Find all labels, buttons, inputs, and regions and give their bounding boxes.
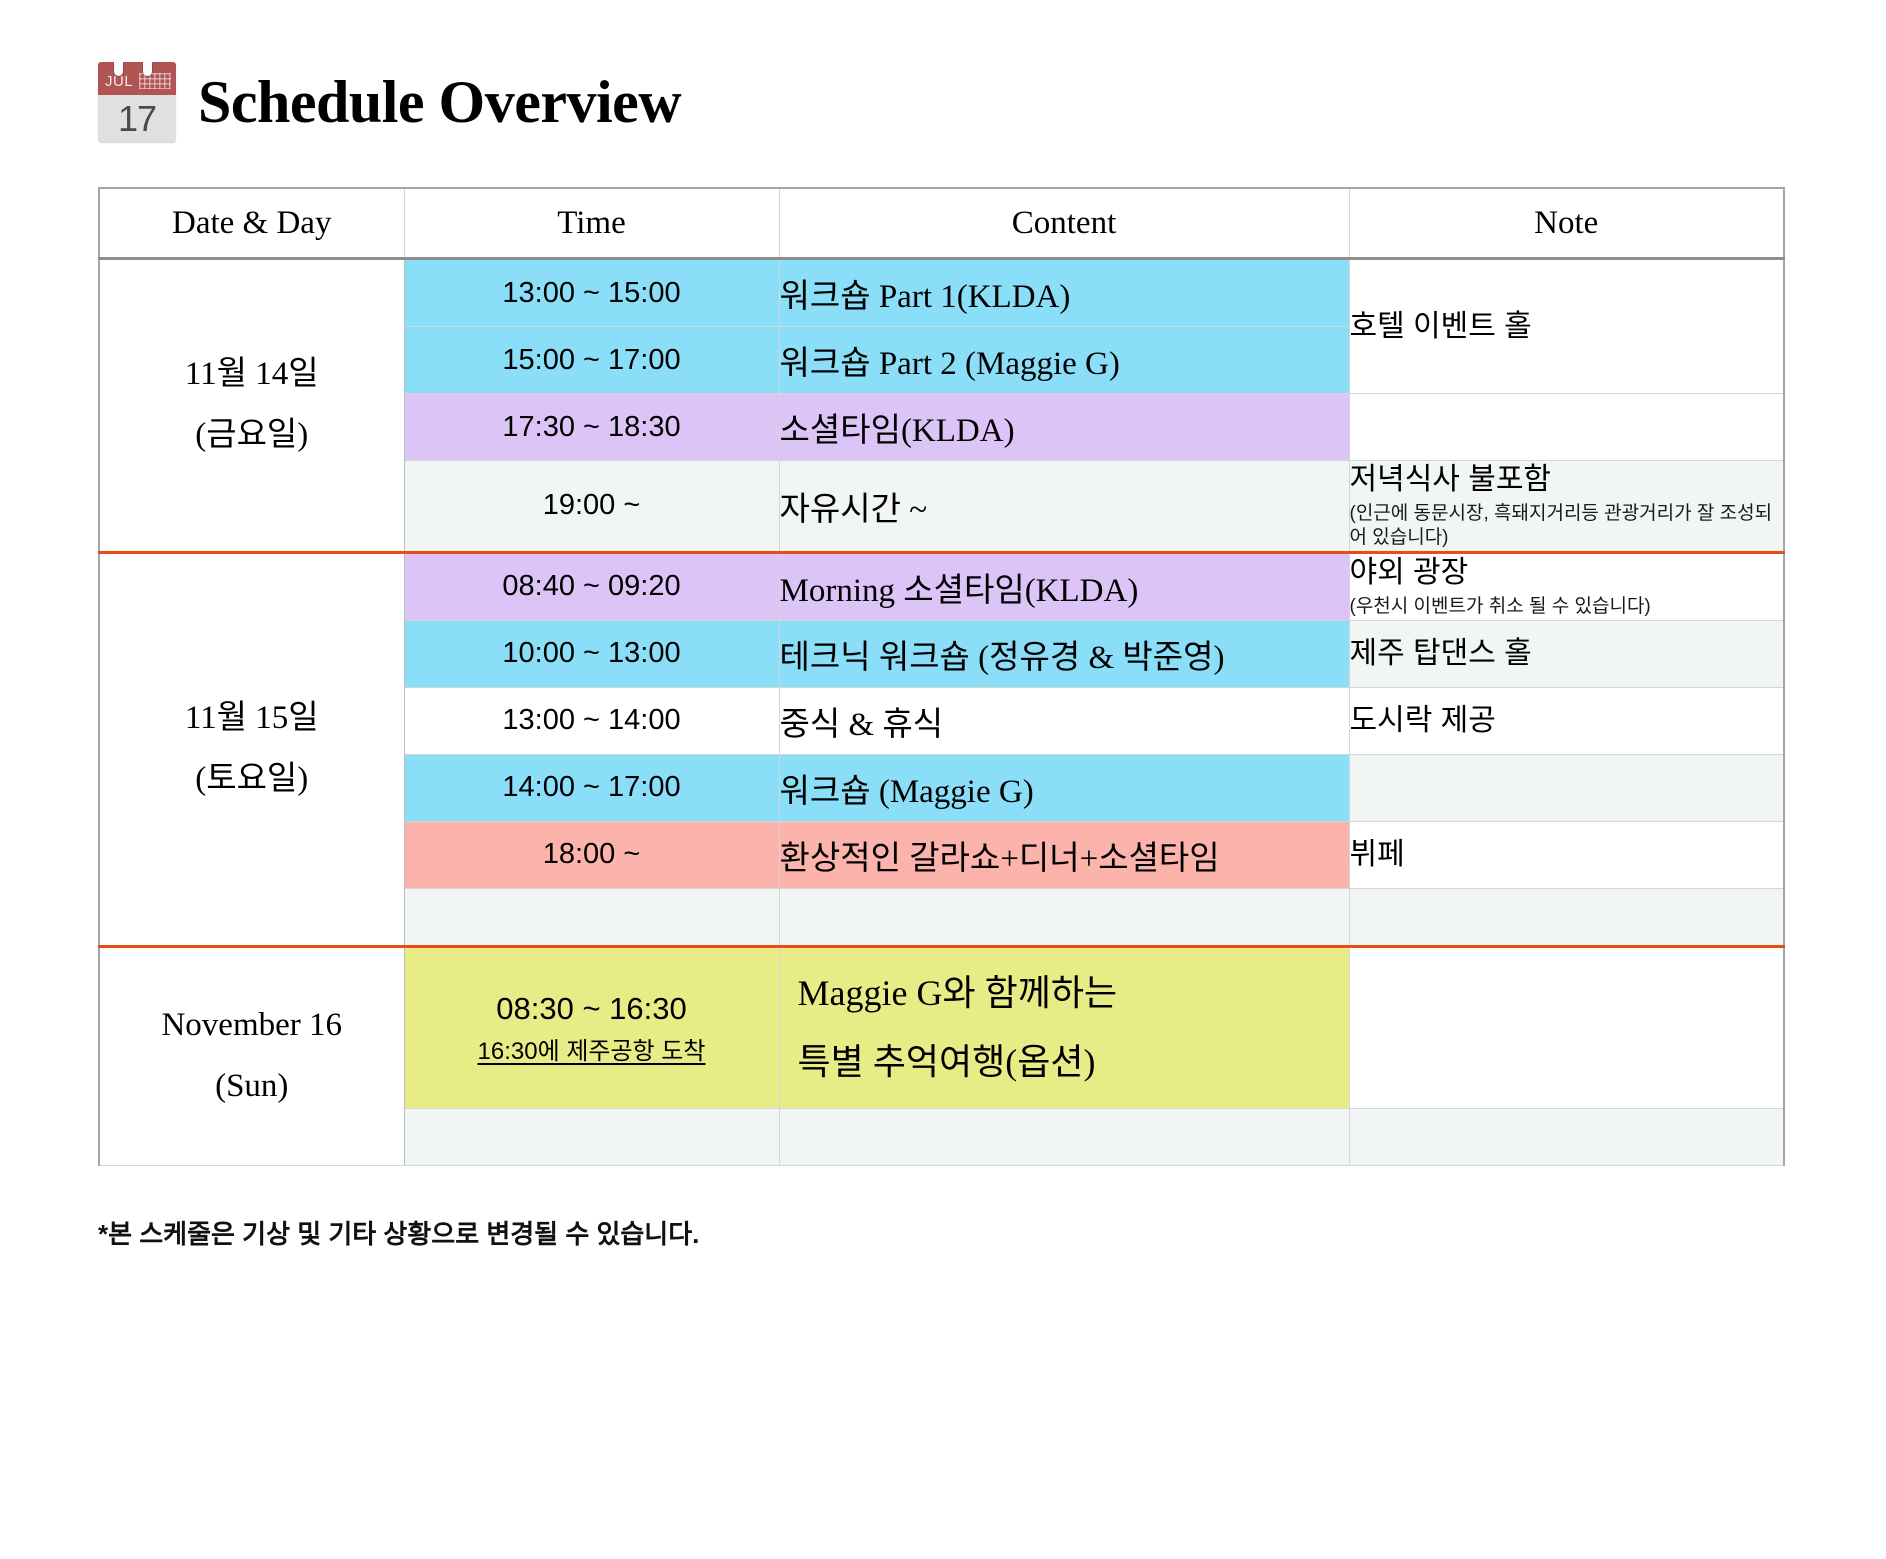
note-cell: 야외 광장 (우천시 이벤트가 취소 될 수 있습니다) (1349, 552, 1784, 620)
content-cell: 환상적인 갈라쇼+디너+소셜타임 (779, 821, 1349, 888)
note-cell: 호텔 이벤트 홀 (1349, 259, 1784, 394)
content-line-2: 특별 추억여행(옵션) (798, 1028, 1349, 1096)
time-cell: 18:00 ~ (404, 821, 779, 888)
spacer-cell-time (404, 1108, 779, 1165)
spacer-cell-note (1349, 888, 1784, 946)
schedule-table: Date & Day Time Content Note 11월 14일 (금요… (98, 187, 1785, 1166)
date-line-2: (Sun) (100, 1056, 404, 1117)
column-header-note: Note (1349, 188, 1784, 259)
note-cell (1349, 394, 1784, 461)
date-line-1: 11월 15일 (100, 688, 404, 749)
time-cell: 08:30 ~ 16:30 16:30에 제주공항 도착 (404, 946, 779, 1108)
note-cell (1349, 946, 1784, 1108)
spacer-cell-note (1349, 1108, 1784, 1165)
content-cell: 워크숍 Part 1(KLDA) (779, 259, 1349, 327)
note-sub: (우천시 이벤트가 취소 될 수 있습니다) (1350, 595, 1784, 620)
date-line-1: November 16 (100, 995, 404, 1056)
time-cell: 13:00 ~ 15:00 (404, 259, 779, 327)
column-header-time: Time (404, 188, 779, 259)
note-cell: 뷔페 (1349, 821, 1784, 888)
schedule-page: JUL 17 Schedule Overview Date & Day Time… (0, 0, 1886, 1559)
time-sub-note: 16:30에 제주공항 도착 (405, 1036, 779, 1068)
note-cell: 도시락 제공 (1349, 687, 1784, 754)
spacer-cell-time (404, 888, 779, 946)
table-body: 11월 14일 (금요일) 13:00 ~ 15:00 워크숍 Part 1(K… (99, 259, 1784, 1166)
note-cell: 저녁식사 불포함 (인근에 동문시장, 흑돼지거리등 관광거리가 잘 조성되어 … (1349, 461, 1784, 553)
time-cell: 14:00 ~ 17:00 (404, 754, 779, 821)
date-line-2: (토요일) (100, 749, 404, 810)
note-cell: 제주 탑댄스 홀 (1349, 620, 1784, 687)
time-cell: 15:00 ~ 17:00 (404, 327, 779, 394)
time-cell: 10:00 ~ 13:00 (404, 620, 779, 687)
table-header: Date & Day Time Content Note (99, 188, 1784, 259)
content-cell: 테크닉 워크숍 (정유경 & 박준영) (779, 620, 1349, 687)
column-header-content: Content (779, 188, 1349, 259)
time-cell: 08:40 ~ 09:20 (404, 552, 779, 620)
spacer-cell-content (779, 1108, 1349, 1165)
note-main: 제주 탑댄스 홀 (1350, 637, 1532, 670)
note-main: 호텔 이벤트 홀 (1350, 310, 1532, 343)
date-cell-group-1: 11월 14일 (금요일) (99, 259, 404, 553)
note-main: 도시락 제공 (1350, 704, 1496, 737)
time-cell: 13:00 ~ 14:00 (404, 687, 779, 754)
date-line-2: (금요일) (100, 405, 404, 466)
note-main: 야외 광장 (1350, 556, 1469, 589)
content-cell: Morning 소셜타임(KLDA) (779, 552, 1349, 620)
note-sub: (인근에 동문시장, 흑돼지거리등 관광거리가 잘 조성되어 있습니다) (1350, 502, 1784, 551)
schedule-table-wrap: Date & Day Time Content Note 11월 14일 (금요… (98, 187, 1783, 1166)
content-cell: 워크숍 (Maggie G) (779, 754, 1349, 821)
date-cell-group-3: November 16 (Sun) (99, 946, 404, 1165)
date-line-1: 11월 14일 (100, 344, 404, 405)
table-row: 11월 15일 (토요일) 08:40 ~ 09:20 Morning 소셜타임… (99, 552, 1784, 620)
table-row: November 16 (Sun) 08:30 ~ 16:30 16:30에 제… (99, 946, 1784, 1108)
page-header: JUL 17 Schedule Overview (0, 0, 1886, 142)
content-cell: 자유시간 ~ (779, 461, 1349, 553)
calendar-icon: JUL 17 (98, 62, 176, 142)
column-header-date: Date & Day (99, 188, 404, 259)
content-cell: 중식 & 휴식 (779, 687, 1349, 754)
table-row: 11월 14일 (금요일) 13:00 ~ 15:00 워크숍 Part 1(K… (99, 259, 1784, 327)
table-header-row: Date & Day Time Content Note (99, 188, 1784, 259)
time-main: 08:30 ~ 16:30 (405, 988, 779, 1030)
date-cell-group-2: 11월 15일 (토요일) (99, 552, 404, 946)
content-cell: Maggie G와 함께하는 특별 추억여행(옵션) (779, 946, 1349, 1108)
spacer-cell-content (779, 888, 1349, 946)
calendar-icon-month: JUL (105, 74, 133, 89)
footnote: *본 스케줄은 기상 및 기타 상황으로 변경될 수 있습니다. (98, 1214, 1886, 1251)
note-main: 뷔페 (1350, 838, 1405, 871)
time-cell: 17:30 ~ 18:30 (404, 394, 779, 461)
calendar-icon-day: 17 (98, 95, 176, 142)
calendar-icon-grid (139, 73, 171, 89)
note-cell (1349, 754, 1784, 821)
content-cell: 워크숍 Part 2 (Maggie G) (779, 327, 1349, 394)
note-main: 저녁식사 불포함 (1350, 463, 1552, 496)
calendar-icon-ring-right (143, 62, 152, 76)
content-line-1: Maggie G와 함께하는 (798, 959, 1349, 1027)
page-title: Schedule Overview (198, 72, 681, 132)
content-cell: 소셜타임(KLDA) (779, 394, 1349, 461)
time-cell: 19:00 ~ (404, 461, 779, 553)
calendar-icon-ring-left (114, 62, 123, 76)
